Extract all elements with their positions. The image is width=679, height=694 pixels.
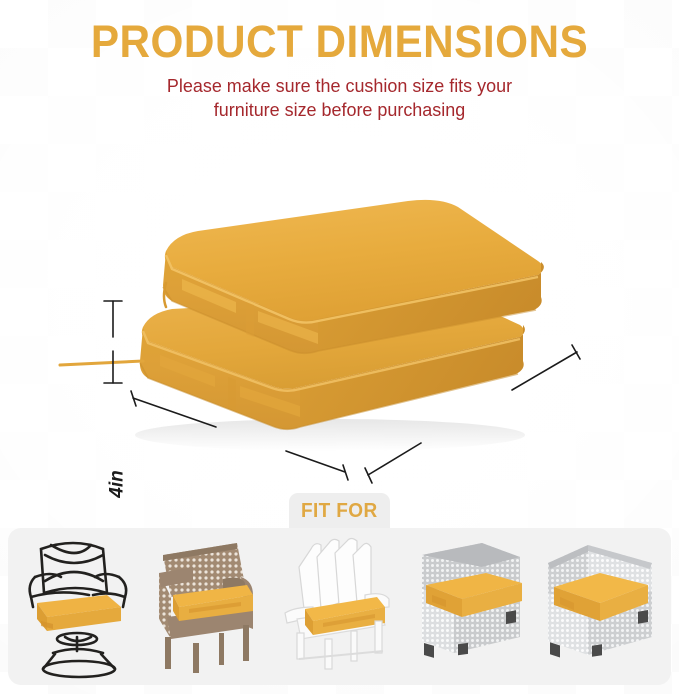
brown-wicker-armchair-icon	[149, 533, 269, 679]
fit-item-gray-wicker-corner-sectional[interactable]	[540, 533, 660, 679]
gray-wicker-armless-sectional-icon	[410, 533, 530, 679]
cushion-tie-string-lower	[60, 361, 143, 365]
fit-for-panel	[8, 528, 671, 685]
fit-item-white-adirondack-chair[interactable]	[279, 533, 399, 679]
black-metal-swivel-chair-icon	[19, 533, 139, 679]
infographic-stage: PRODUCT DIMENSIONS Please make sure the …	[0, 0, 679, 694]
fit-item-brown-wicker-armchair[interactable]	[149, 533, 269, 679]
white-adirondack-chair-icon	[279, 533, 399, 679]
ground-shadow	[135, 419, 525, 451]
width-tick-right	[343, 465, 348, 480]
gray-wicker-corner-sectional-icon	[540, 533, 660, 679]
dimension-label-height: 4in	[107, 470, 129, 497]
width-line-right	[286, 451, 345, 472]
upper-cushion-seam-vertical	[246, 302, 254, 337]
fit-for-item-list	[8, 528, 671, 685]
fit-for-label: FIT FOR	[301, 500, 378, 523]
lower-cushion-seam-vertical	[228, 377, 236, 411]
yellow-cushion-on-chair	[37, 595, 121, 631]
stacked-cushions-drawing	[0, 155, 679, 485]
product-illustration: 4in 16in 18.5in	[0, 155, 679, 485]
fit-item-gray-wicker-armless-sectional[interactable]	[410, 533, 530, 679]
fit-item-black-metal-swivel-chair[interactable]	[19, 533, 139, 679]
fit-for-tab: FIT FOR	[289, 493, 390, 529]
header: PRODUCT DIMENSIONS Please make sure the …	[0, 0, 679, 122]
subtitle-line-1: Please make sure the cushion size fits y…	[10, 74, 669, 98]
depth-tick-lower	[365, 468, 372, 483]
page-title: PRODUCT DIMENSIONS	[20, 18, 658, 66]
subtitle-line-2: furniture size before purchasing	[10, 98, 669, 122]
depth-tick-upper	[572, 345, 580, 359]
width-line-left	[133, 398, 216, 427]
